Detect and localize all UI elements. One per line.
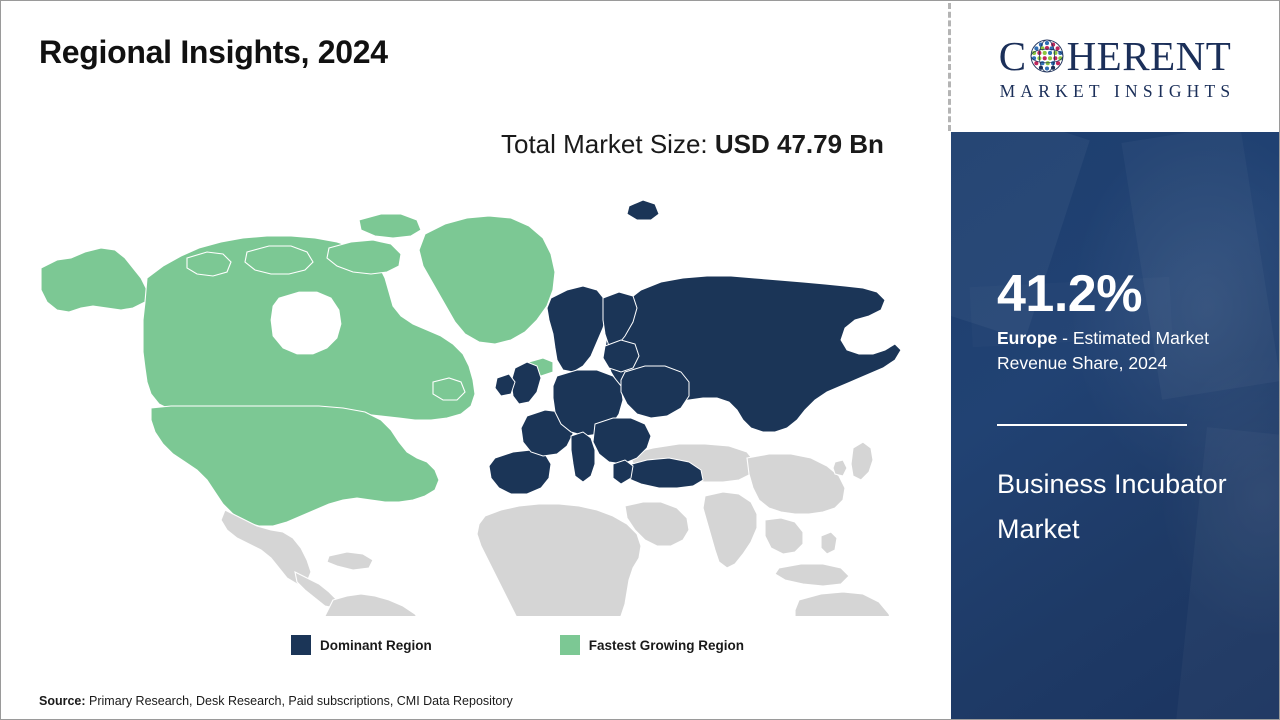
- region-iberia: [489, 450, 551, 494]
- stat-panel: 41.2% Europe - Estimated Market Revenue …: [951, 132, 1279, 719]
- region-greece: [613, 460, 633, 484]
- region-baltics: [603, 340, 639, 372]
- world-map-svg: .g { fill:#7CC894; stroke:#ffffff; strok…: [29, 186, 919, 616]
- world-map-container: .g { fill:#7CC894; stroke:#ffffff; strok…: [29, 186, 919, 616]
- map-panel: Regional Insights, 2024 Total Market Siz…: [1, 1, 949, 719]
- logo-wordmark: C: [999, 33, 1232, 79]
- region-indonesia: [775, 564, 849, 586]
- total-market-size-value: USD 47.79 Bn: [715, 129, 884, 159]
- stat-divider-rule: [997, 424, 1187, 426]
- region-scandinavia: [547, 286, 607, 372]
- region-australia: [795, 592, 893, 616]
- region-ellesmere-island: [359, 214, 421, 238]
- legend-label-dominant: Dominant Region: [320, 638, 432, 653]
- region-central-america: [295, 572, 337, 608]
- legend-item-dominant: Dominant Region: [291, 635, 432, 655]
- region-victoria-island: [245, 246, 313, 274]
- region-china: [747, 454, 845, 514]
- legend-label-fastest-growing: Fastest Growing Region: [589, 638, 744, 653]
- stat-caption: Europe - Estimated Market Revenue Share,…: [997, 326, 1257, 376]
- region-italy: [571, 432, 595, 482]
- brand-logo: C: [951, 3, 1279, 132]
- stat-caption-region: Europe: [997, 328, 1057, 348]
- region-korea: [833, 460, 847, 476]
- globe-dots-icon: [1028, 37, 1066, 75]
- region-alaska: [41, 248, 147, 312]
- region-united-kingdom: [511, 362, 541, 404]
- region-ireland: [495, 374, 515, 396]
- page-title: Regional Insights, 2024: [39, 34, 388, 71]
- source-note: Source: Primary Research, Desk Research,…: [39, 694, 513, 708]
- region-banks-island: [187, 252, 231, 276]
- region-africa: [477, 504, 641, 616]
- market-name: Business Incubator Market: [997, 462, 1237, 552]
- legend-swatch-fastest-growing: [560, 635, 580, 655]
- region-united-states: [151, 406, 439, 526]
- source-text: Primary Research, Desk Research, Paid su…: [86, 694, 513, 708]
- region-south-america: [323, 594, 427, 616]
- region-philippines: [821, 532, 837, 554]
- region-eastern-europe: [621, 366, 689, 418]
- region-southeast-asia: [765, 518, 803, 554]
- region-india: [703, 492, 757, 568]
- regional-insights-infographic: Regional Insights, 2024 Total Market Siz…: [0, 0, 1280, 720]
- region-caribbean: [327, 552, 373, 570]
- region-japan: [851, 442, 873, 480]
- hudson-bay: [271, 292, 341, 354]
- region-greenland: [419, 216, 555, 344]
- logo-word-right: HERENT: [1067, 36, 1232, 77]
- logo-word-left: C: [999, 36, 1027, 77]
- stat-value: 41.2%: [997, 268, 1142, 320]
- region-newfoundland: [433, 378, 465, 400]
- region-svalbard: [627, 200, 659, 220]
- logo-tagline: MARKET INSIGHTS: [995, 81, 1236, 102]
- total-market-size: Total Market Size: USD 47.79 Bn: [501, 126, 906, 163]
- total-market-size-label: Total Market Size:: [501, 129, 715, 159]
- map-legend: Dominant Region Fastest Growing Region: [291, 635, 744, 655]
- legend-swatch-dominant: [291, 635, 311, 655]
- legend-item-fastest-growing: Fastest Growing Region: [560, 635, 744, 655]
- source-label: Source:: [39, 694, 86, 708]
